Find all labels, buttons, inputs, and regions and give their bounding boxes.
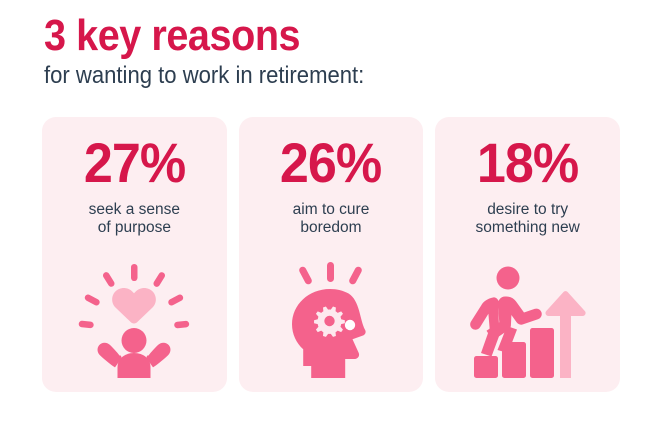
page-title: 3 key reasons [44,14,566,59]
person-heart-icon [42,260,227,378]
stat-card: 26% aim to cure boredom [239,117,424,392]
stat-card: 18% desire to try something new [435,117,620,392]
stat-label: desire to try something new [476,201,580,238]
stat-card: 27% seek a sense of purpose [42,117,227,392]
stat-label: aim to cure boredom [293,201,370,238]
stat-card-list: 27% seek a sense of purpose [42,117,620,392]
person-head [122,328,147,353]
heart-shape [112,288,156,324]
stat-percent: 18% [477,135,578,191]
head-gear-icon [239,260,424,378]
stat-percent: 27% [84,135,185,191]
infographic: 3 key reasons for wanting to work in ret… [0,0,662,438]
page-subtitle: for wanting to work in retirement: [44,63,578,89]
eye-dot [345,320,355,330]
stat-percent: 26% [280,135,381,191]
person-climbing-bars-arrow-icon [435,260,620,378]
stat-label: seek a sense of purpose [89,201,180,238]
header: 3 key reasons for wanting to work in ret… [44,14,624,89]
